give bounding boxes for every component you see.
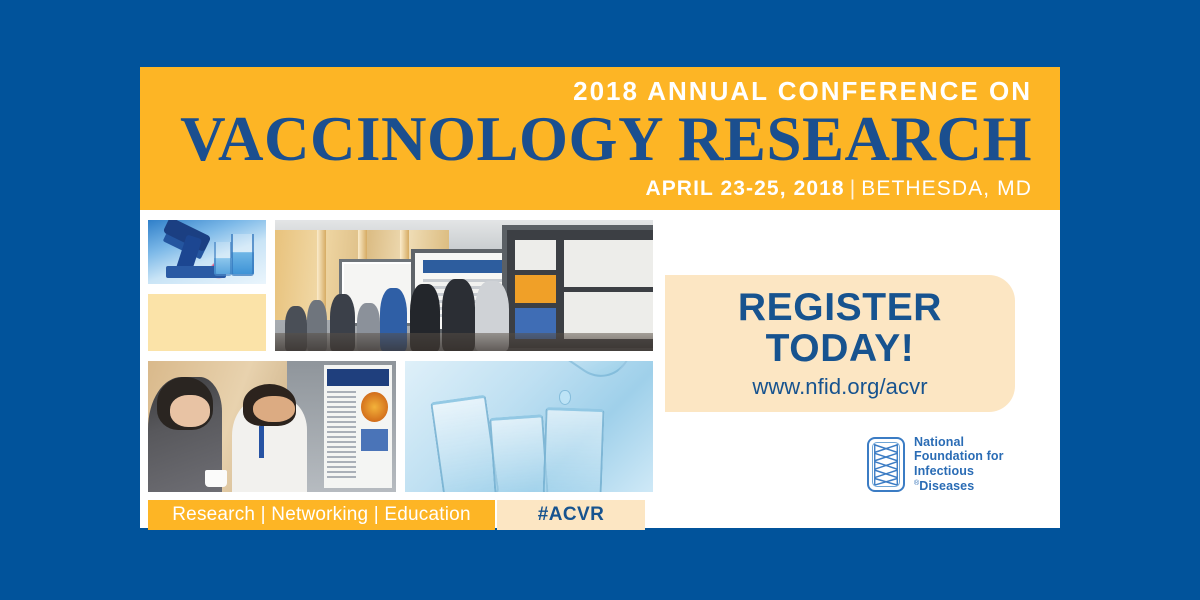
header-kicker: 2018 ANNUAL CONFERENCE ON: [573, 78, 1032, 104]
cream-block: [148, 294, 266, 351]
header-date-location: APRIL 23-25, 2018|BETHESDA, MD: [645, 178, 1032, 199]
poster-panel-shape: [564, 240, 653, 287]
nfid-word-line1: National: [914, 435, 1004, 450]
nfid-logo-wordmark: National Foundation for Infectious ®Dise…: [914, 435, 1004, 494]
dna-helix-icon: [867, 437, 905, 492]
photo-collage: [148, 220, 653, 510]
attendee-face-shape: [170, 395, 210, 427]
test-tube-shape: [542, 407, 604, 492]
dna-helix-inner-frame: [872, 442, 900, 487]
coffee-cup-shape: [205, 470, 227, 487]
nfid-word-line2: Foundation for: [914, 449, 1004, 464]
header-separator: |: [845, 177, 862, 200]
poster-hall-photo: [275, 220, 653, 351]
register-url[interactable]: www.nfid.org/acvr: [752, 374, 927, 400]
poster-sheet-text-shape: [327, 391, 357, 480]
poster-discussion-photo: [148, 361, 396, 492]
header-band: 2018 ANNUAL CONFERENCE ON VACCINOLOGY RE…: [140, 67, 1060, 210]
nfid-word-line4: ®Diseases: [914, 479, 1004, 494]
poster-sheet-header-shape: [327, 369, 389, 386]
beaker-shape: [231, 234, 254, 276]
beaker-secondary-shape: [214, 242, 232, 276]
poster-sheet-figure-shape: [361, 392, 388, 422]
poster-sheet-figure-shape: [361, 429, 388, 451]
poster-panel-shape: [564, 292, 653, 339]
nfid-logo: National Foundation for Infectious ®Dise…: [867, 435, 1037, 493]
header-location: BETHESDA, MD: [861, 177, 1032, 200]
presenter-silhouette: [232, 398, 306, 492]
nfid-word-line4-text: Diseases: [919, 479, 974, 493]
hashtag-strip: #ACVR: [497, 500, 645, 530]
header-dates: APRIL 23-25, 2018: [645, 177, 844, 200]
page-title: VACCINOLOGY RESEARCH: [180, 107, 1032, 173]
liquid-drop-shape: [559, 390, 571, 405]
presenter-face-shape: [253, 396, 295, 422]
pipette-shape: [536, 361, 633, 389]
test-tubes-photo: [405, 361, 653, 492]
test-tube-shape: [430, 395, 500, 492]
hall-floor-shape: [275, 333, 653, 351]
microscope-lab-illustration: [148, 220, 266, 284]
register-headline-line1: REGISTER: [738, 287, 942, 328]
test-tube-shape: [489, 414, 548, 492]
presenter-lanyard-shape: [259, 426, 263, 458]
nfid-word-line3: Infectious: [914, 464, 1004, 479]
register-cta-panel[interactable]: REGISTER TODAY! www.nfid.org/acvr: [665, 275, 1015, 412]
register-headline-line2: TODAY!: [766, 328, 915, 369]
poster-sheet-shape: [324, 365, 392, 488]
poster-panel-shape: [515, 240, 556, 271]
tagline-strip: Research | Networking | Education: [148, 500, 495, 530]
poster-root: 2018 ANNUAL CONFERENCE ON VACCINOLOGY RE…: [0, 0, 1200, 600]
poster-card: 2018 ANNUAL CONFERENCE ON VACCINOLOGY RE…: [140, 67, 1060, 528]
